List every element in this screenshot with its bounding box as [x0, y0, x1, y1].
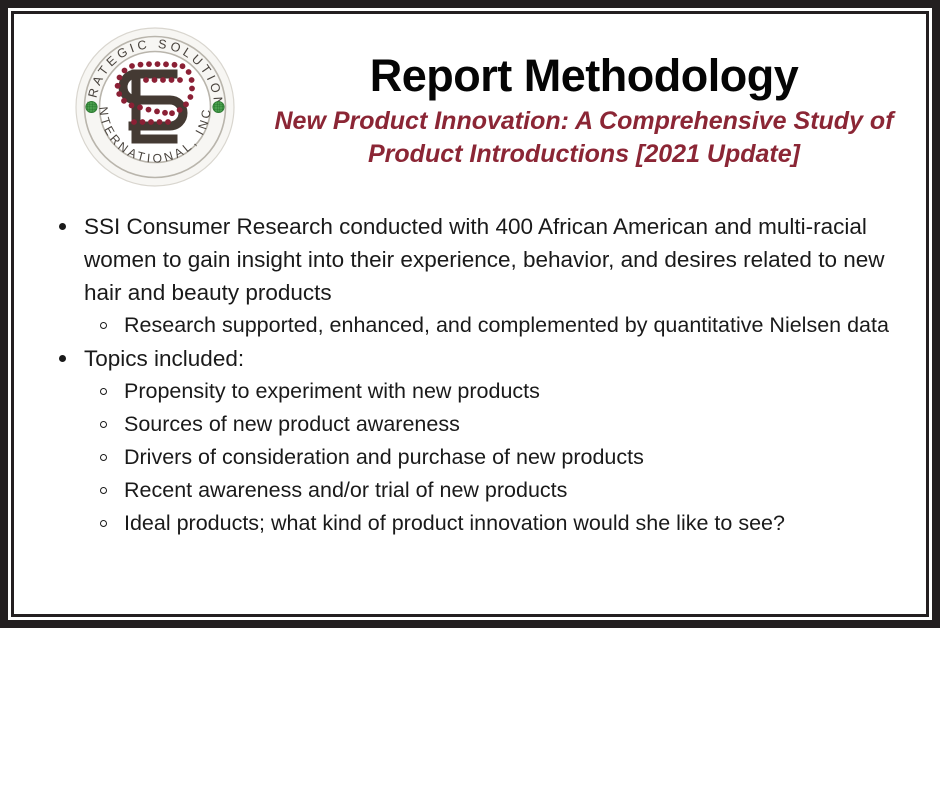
page-title: Report Methodology — [248, 52, 920, 101]
bullet-circle-icon — [100, 408, 110, 441]
page-subtitle: New Product Innovation: A Comprehensive … — [269, 105, 899, 171]
slide-border-inner-rule: STRATEGIC SOLUTIONS INTERNATIONAL, INC. — [11, 11, 929, 617]
bullet-item-level-1: SSI Consumer Research conducted with 400… — [40, 210, 900, 309]
bullet-disc-icon — [59, 210, 68, 243]
bullet-sublist: Propensity to experiment with new produc… — [40, 375, 900, 540]
bullet-text: Sources of new product awareness — [124, 408, 900, 441]
bullet-circle-icon — [100, 474, 110, 507]
bullet-item-level-2: Sources of new product awareness — [40, 408, 900, 441]
bullet-text: Recent awareness and/or trial of new pro… — [124, 474, 900, 507]
bullet-text: Ideal products; what kind of product inn… — [124, 507, 900, 540]
bullet-disc-icon — [59, 342, 68, 375]
slide-border-gap: STRATEGIC SOLUTIONS INTERNATIONAL, INC. — [8, 8, 932, 620]
bullet-item-level-2: Drivers of consideration and purchase of… — [40, 441, 900, 474]
bullet-circle-icon — [100, 441, 110, 474]
bullet-sublist: Research supported, enhanced, and comple… — [40, 309, 900, 342]
bullet-item-level-2: Recent awareness and/or trial of new pro… — [40, 474, 900, 507]
bullet-list: SSI Consumer Research conducted with 400… — [40, 210, 900, 540]
bullet-text: Propensity to experiment with new produc… — [124, 375, 900, 408]
bullet-text: SSI Consumer Research conducted with 400… — [84, 210, 900, 309]
bullet-item-level-1: Topics included: — [40, 342, 900, 375]
slide-body: SSI Consumer Research conducted with 400… — [14, 210, 926, 540]
bullet-text: Research supported, enhanced, and comple… — [124, 309, 900, 342]
slide-border-frame: STRATEGIC SOLUTIONS INTERNATIONAL, INC. — [0, 0, 940, 628]
title-block: Report Methodology New Product Innovatio… — [248, 52, 920, 171]
bullet-text: Topics included: — [84, 342, 900, 375]
company-logo-icon: STRATEGIC SOLUTIONS INTERNATIONAL, INC. — [74, 26, 236, 188]
bullet-sublist-wrapper: Research supported, enhanced, and comple… — [40, 309, 900, 342]
bullet-text: Drivers of consideration and purchase of… — [124, 441, 900, 474]
bullet-item-level-2: Research supported, enhanced, and comple… — [40, 309, 900, 342]
bullet-sublist-wrapper: Propensity to experiment with new produc… — [40, 375, 900, 540]
bullet-circle-icon — [100, 309, 110, 342]
slide-canvas: STRATEGIC SOLUTIONS INTERNATIONAL, INC. — [14, 14, 926, 614]
bullet-circle-icon — [100, 375, 110, 408]
bullet-item-level-2: Ideal products; what kind of product inn… — [40, 507, 900, 540]
slide-header: STRATEGIC SOLUTIONS INTERNATIONAL, INC. — [14, 14, 926, 206]
bullet-item-level-2: Propensity to experiment with new produc… — [40, 375, 900, 408]
bullet-circle-icon — [100, 507, 110, 540]
